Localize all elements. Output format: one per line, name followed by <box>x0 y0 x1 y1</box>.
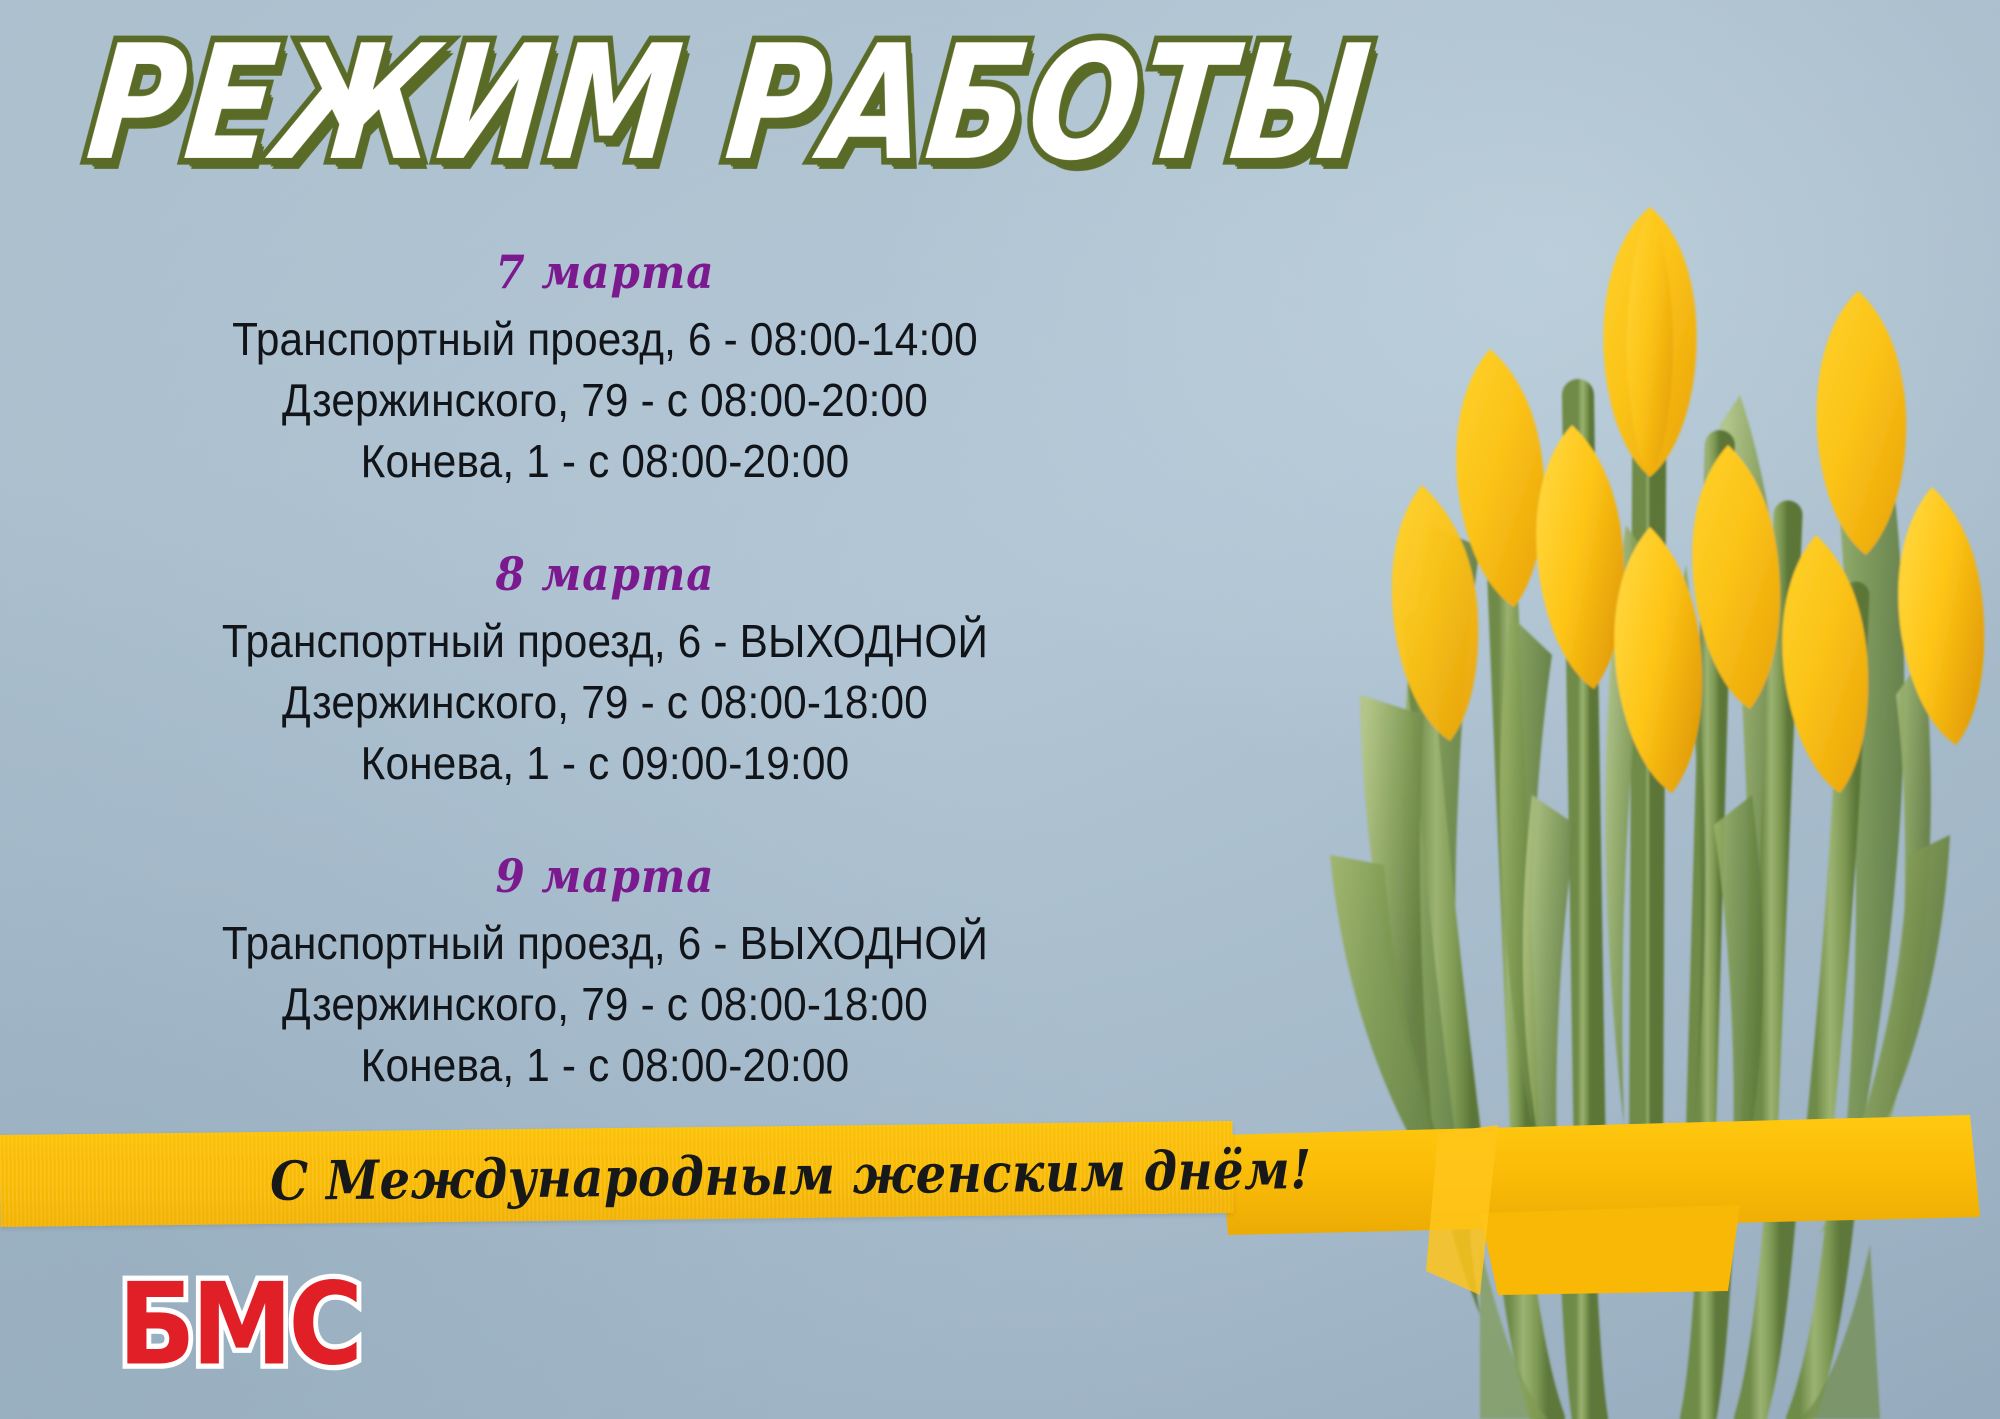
schedule-line: Дзержинского, 79 - с 08:00-18:00 <box>48 672 1161 733</box>
schedule-line: Конева, 1 - с 08:00-20:00 <box>48 1035 1161 1096</box>
title-container: РЕЖИМ РАБОТЫ <box>90 18 1170 198</box>
schedule-list: 7 марта Транспортный проезд, 6 - 08:00-1… <box>0 248 1210 1096</box>
schedule-line: Конева, 1 - с 08:00-20:00 <box>48 431 1161 492</box>
schedule-block: 7 марта Транспортный проезд, 6 - 08:00-1… <box>0 248 1210 492</box>
schedule-date: 7 марта <box>0 246 1210 299</box>
greeting-text: С Международным женским днём! <box>269 1120 1230 1234</box>
schedule-block: 8 марта Транспортный проезд, 6 - ВЫХОДНО… <box>0 550 1210 794</box>
poster-canvas: РЕЖИМ РАБОТЫ 7 марта Транспортный проезд… <box>0 0 2000 1419</box>
schedule-line: Конева, 1 - с 09:00-19:00 <box>48 733 1161 794</box>
bms-logo: БМС <box>118 1268 359 1381</box>
page-title: РЕЖИМ РАБОТЫ <box>79 0 1181 207</box>
schedule-line: Дзержинского, 79 - с 08:00-20:00 <box>48 370 1161 431</box>
schedule-line: Транспортный проезд, 6 - ВЫХОДНОЙ <box>48 611 1161 672</box>
schedule-date: 8 марта <box>0 548 1210 601</box>
schedule-line: Транспортный проезд, 6 - 08:00-14:00 <box>48 309 1161 370</box>
schedule-block: 9 марта Транспортный проезд, 6 - ВЫХОДНО… <box>0 852 1210 1096</box>
schedule-line: Транспортный проезд, 6 - ВЫХОДНОЙ <box>48 913 1161 974</box>
schedule-line: Дзержинского, 79 - с 08:00-18:00 <box>48 974 1161 1035</box>
schedule-date: 9 марта <box>0 850 1210 903</box>
